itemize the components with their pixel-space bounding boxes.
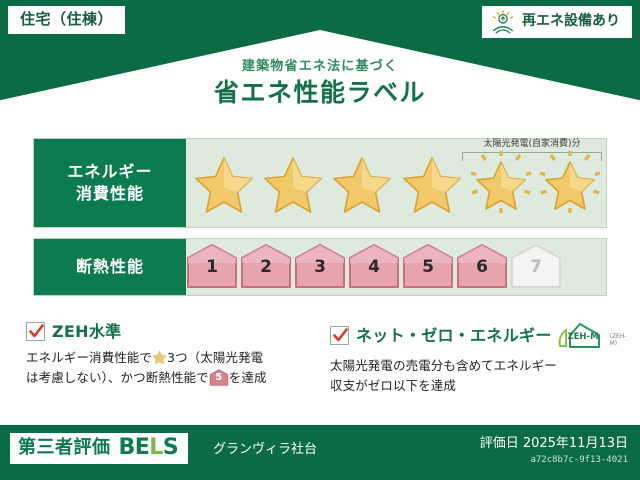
energy-label-line2: 消費性能 xyxy=(76,183,144,205)
inline-house-grade: 5 xyxy=(209,369,229,386)
check-icon xyxy=(332,327,349,344)
renewable-equipment-label: 再エネ設備あり xyxy=(522,14,620,29)
star-2 xyxy=(261,151,325,217)
evaluation-id: a72c8b7c-9f13-4021 xyxy=(530,455,628,466)
zeh-m-logo-icon: ZEH-M xyxy=(557,322,603,349)
criterion-text-line2: 収支がゼロ以下を達成 xyxy=(330,378,456,393)
title-subtitle: 建築物省エネ法に基づく xyxy=(0,59,640,75)
housing-type-label: 住宅（住棟） xyxy=(20,10,113,28)
criterion-text-part2: は考慮しない）、かつ断熱性能で xyxy=(26,370,209,385)
zeh-m-logo-caption: (ZEH-M) xyxy=(610,333,627,347)
metrics-section: エネルギー 消費性能 太陽光発電(自家消費)分 xyxy=(33,138,607,306)
star-icon xyxy=(192,154,256,216)
criterion-description: 太陽光発電の売電分も含めてエネルギー 収支がゼロ以下を達成 xyxy=(330,356,618,397)
insulation-grade-1: 1 xyxy=(186,243,238,289)
footer-bar: 第三者評価 BELS グランヴィラ社台 評価日 2025年11月13日 a72c… xyxy=(0,425,640,480)
criterion-text-part1: エネルギー消費性能で xyxy=(26,350,152,365)
third-party-eval-label: 第三者評価 xyxy=(18,438,111,458)
criterion-star-count: 3つ（太陽光発電 xyxy=(167,350,263,365)
star-4 xyxy=(400,151,464,217)
grade-number: 2 xyxy=(240,259,292,276)
sun-solar-icon xyxy=(490,10,516,34)
company-name: グランヴィラ社台 xyxy=(213,443,317,457)
bels-logo: BELS xyxy=(119,437,179,459)
grade-number: 1 xyxy=(186,259,238,276)
inline-star-icon xyxy=(152,350,167,365)
insulation-grade-7: 7 xyxy=(510,243,562,289)
star-icon xyxy=(538,154,602,216)
criterion-title: ネット・ゼロ・エネルギー xyxy=(356,327,552,345)
energy-label-line1: エネルギー xyxy=(67,161,152,183)
criterion-description: エネルギー消費性能で3つ（太陽光発電は考慮しない）、かつ断熱性能で5を達成 xyxy=(26,348,312,389)
title-main: 省エネ性能ラベル xyxy=(0,79,640,108)
star-icon xyxy=(261,154,325,216)
energy-performance-label-box: エネルギー 消費性能 xyxy=(34,139,186,227)
page-title: 建築物省エネ法に基づく 省エネ性能ラベル xyxy=(0,59,640,107)
inline-house-number: 5 xyxy=(209,373,229,383)
star-icon xyxy=(469,154,533,216)
insulation-grade-scale: 1 2 3 xyxy=(186,243,562,289)
grade-number: 6 xyxy=(456,259,508,276)
criterion-text-part3: を達成 xyxy=(229,370,267,385)
star-5-solar xyxy=(469,151,533,217)
evaluation-date: 評価日 2025年11月13日 xyxy=(480,436,628,452)
criterion-header: ネット・ゼロ・エネルギー ZEH-M (ZEH-M) xyxy=(330,322,618,349)
criterion-title: ZEH水準 xyxy=(52,323,121,341)
star-icon xyxy=(330,154,394,216)
check-icon xyxy=(28,323,45,340)
star-6-solar xyxy=(538,151,602,217)
insulation-performance-row: 断熱性能 1 2 xyxy=(33,238,607,296)
svg-text:ZEH-M: ZEH-M xyxy=(567,332,598,342)
renewable-equipment-badge: 再エネ設備あり xyxy=(482,6,632,38)
energy-performance-body: 太陽光発電(自家消費)分 xyxy=(186,139,606,227)
grade-number: 5 xyxy=(402,259,454,276)
insulation-grade-5: 5 xyxy=(402,243,454,289)
energy-performance-label: 住宅（住棟） 再エネ設備あり 建築物省エネ法に基づく 省エネ性能ラベル xyxy=(0,0,640,480)
checkbox-zeh-standard[interactable] xyxy=(26,322,45,341)
star-icon xyxy=(400,154,464,216)
insulation-label: 断熱性能 xyxy=(76,256,144,278)
star-rating xyxy=(192,147,602,221)
insulation-grade-2: 2 xyxy=(240,243,292,289)
grade-number: 4 xyxy=(348,259,400,276)
grade-number: 3 xyxy=(294,259,346,276)
checkbox-net-zero-energy[interactable] xyxy=(330,326,349,345)
criterion-text-line1: 太陽光発電の売電分も含めてエネルギー xyxy=(330,358,557,373)
criterion-header: ZEH水準 xyxy=(26,322,312,341)
insulation-grade-4: 4 xyxy=(348,243,400,289)
insulation-grade-6: 6 xyxy=(456,243,508,289)
star-1 xyxy=(192,151,256,217)
housing-type-badge: 住宅（住棟） xyxy=(8,6,125,34)
criterion-zeh-standard: ZEH水準 エネルギー消費性能で3つ（太陽光発電は考慮しない）、かつ断熱性能で5… xyxy=(26,322,312,397)
insulation-performance-label-box: 断熱性能 xyxy=(34,239,186,295)
bels-certification-badge: 第三者評価 BELS xyxy=(10,433,188,464)
grade-number: 7 xyxy=(510,259,562,276)
bels-logo-part2: L xyxy=(149,435,163,460)
criteria-section: ZEH水準 エネルギー消費性能で3つ（太陽光発電は考慮しない）、かつ断熱性能で5… xyxy=(26,322,618,397)
energy-performance-row: エネルギー 消費性能 太陽光発電(自家消費)分 xyxy=(33,138,607,228)
criterion-net-zero-energy: ネット・ゼロ・エネルギー ZEH-M (ZEH-M) 太陽光発電の売電分も含めて… xyxy=(330,322,618,397)
star-3 xyxy=(330,151,394,217)
bels-logo-part3: S xyxy=(163,435,178,460)
insulation-grade-3: 3 xyxy=(294,243,346,289)
bels-logo-part1: BE xyxy=(119,435,150,460)
